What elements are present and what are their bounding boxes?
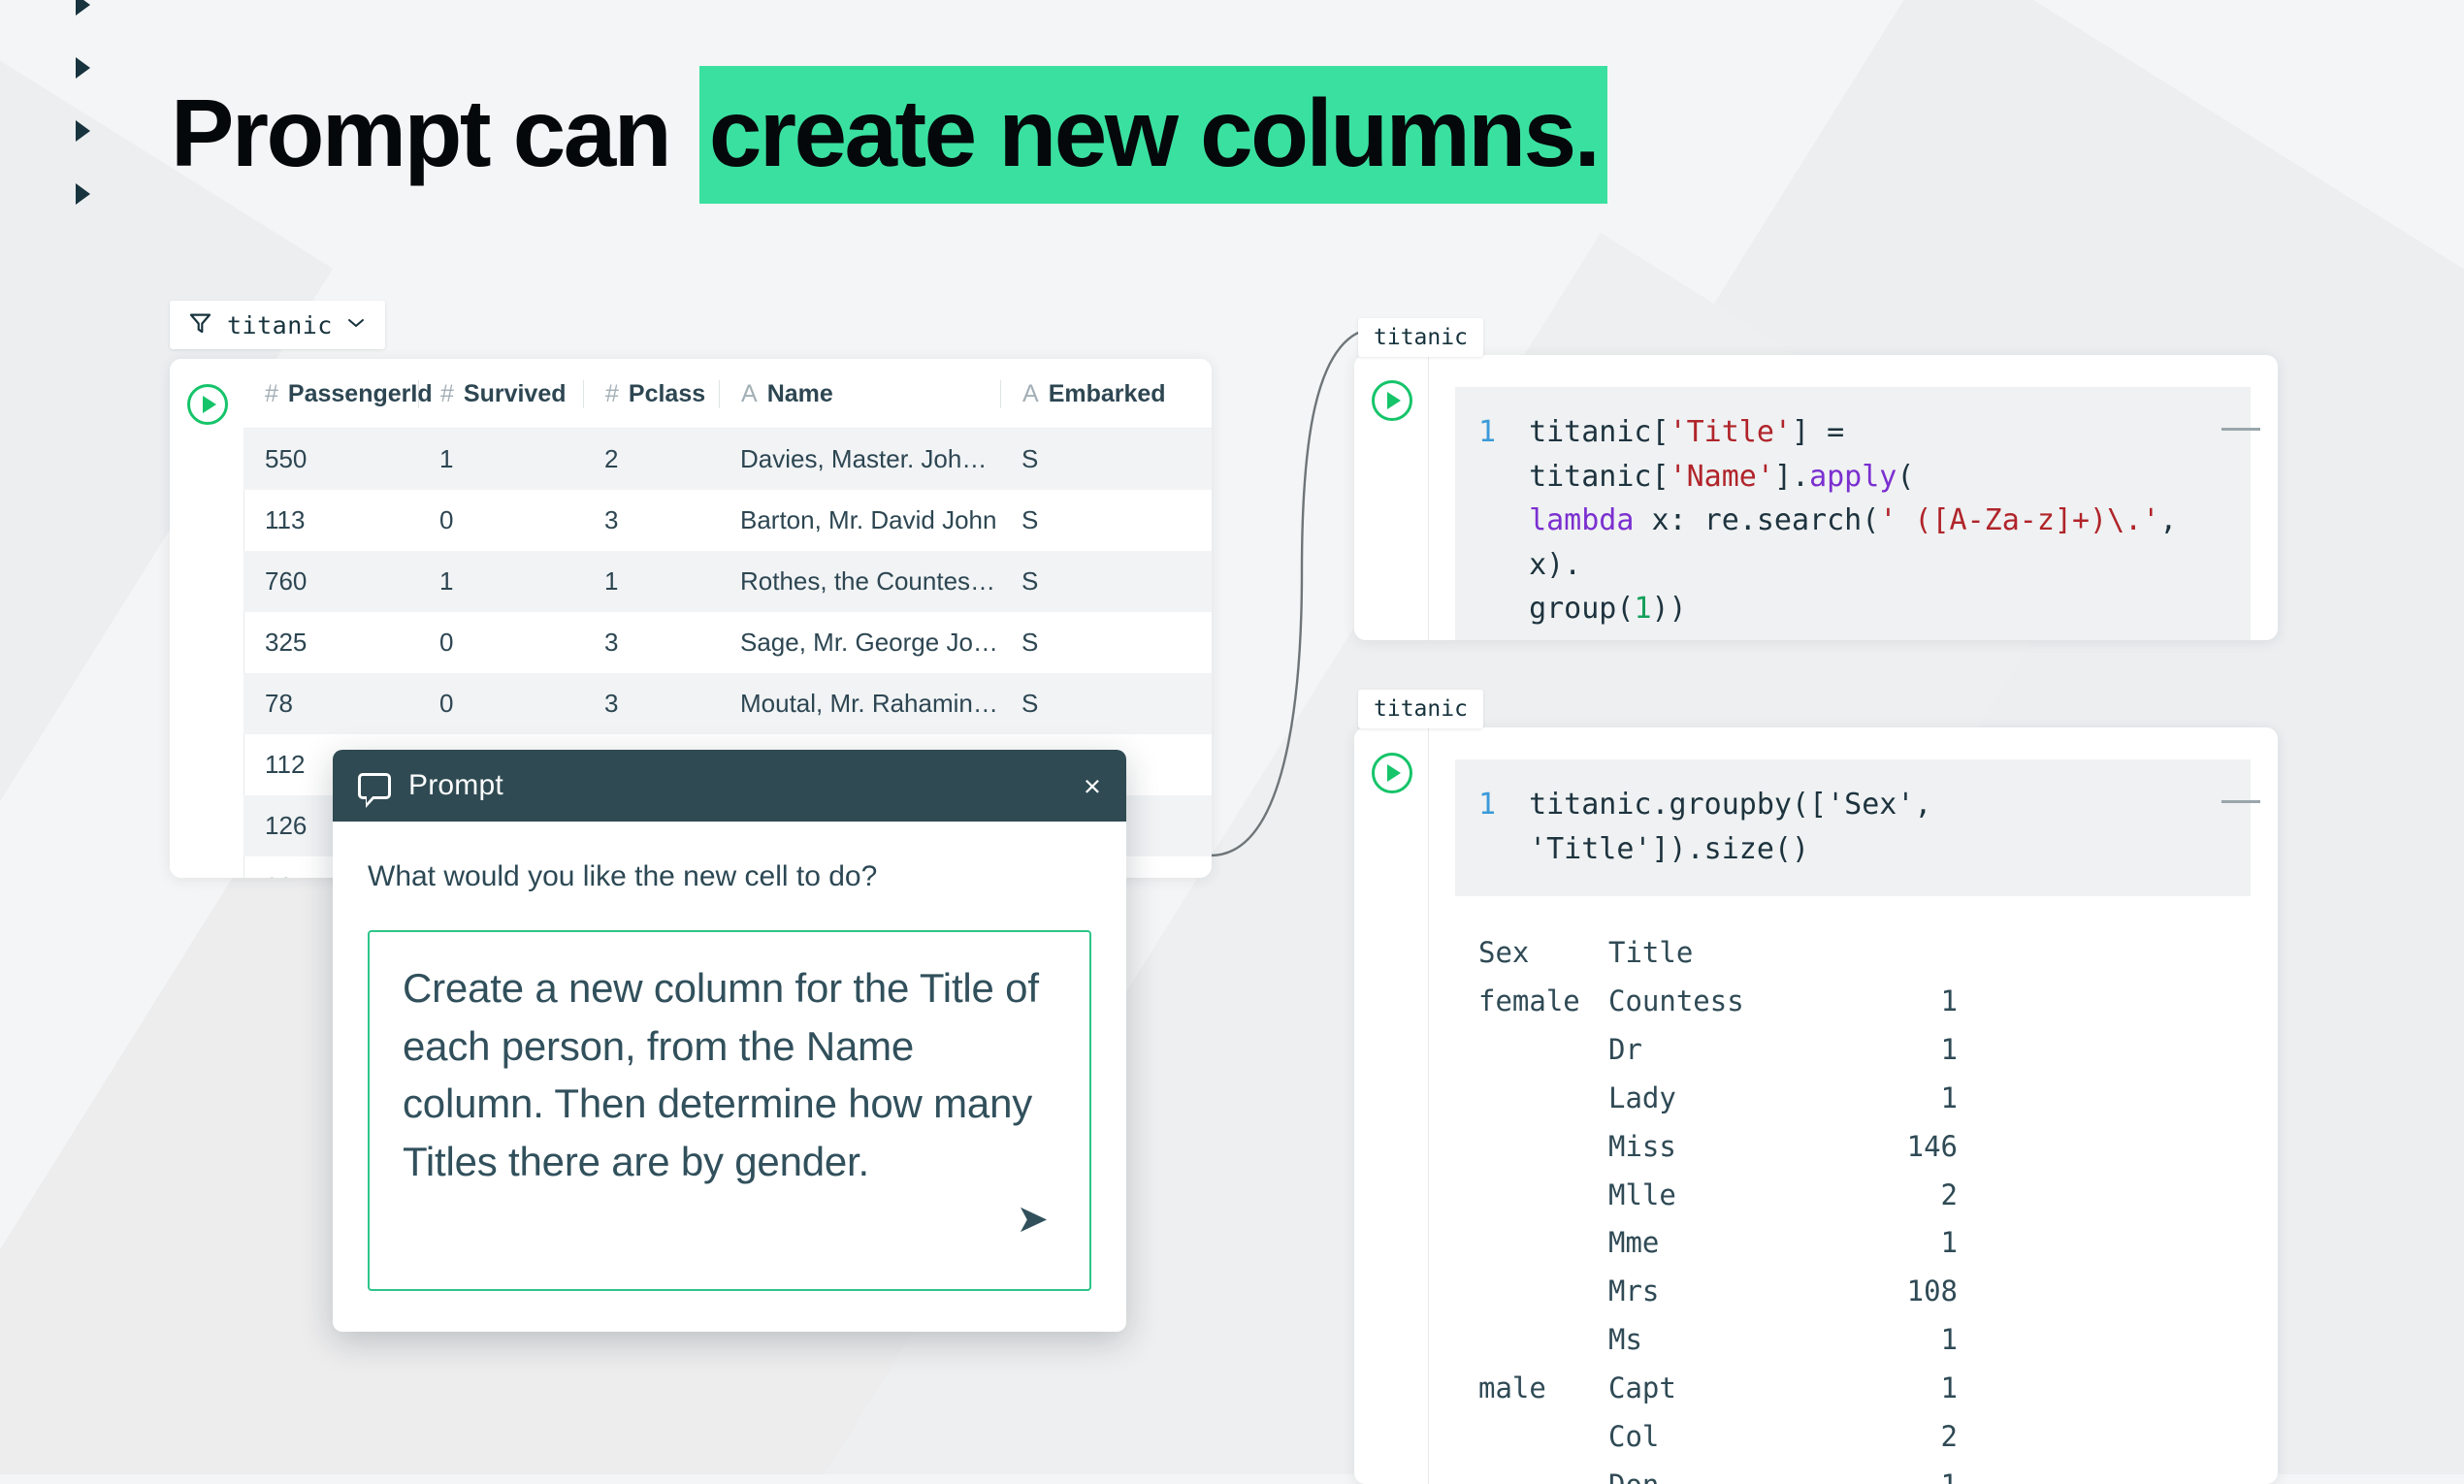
output-count: 1	[1851, 1462, 1958, 1484]
cell-pclass: 2	[583, 429, 719, 491]
output-count: 1	[1851, 978, 1958, 1026]
cell-embarked: S	[1000, 490, 1212, 551]
prompt-dialog: Prompt × What would you like the new cel…	[333, 750, 1126, 1332]
speech-bubble-icon	[358, 773, 391, 799]
column-header-label: Pclass	[629, 380, 705, 408]
output-row: Mlle2	[1478, 1172, 2278, 1220]
code-token: 1	[1634, 592, 1651, 626]
code-token: 'Title'	[1670, 415, 1792, 449]
cell-embarked: S	[1000, 551, 1212, 612]
headline-highlight: create new columns.	[699, 66, 1608, 204]
code-token: ))	[1652, 592, 1687, 626]
collapse-handle[interactable]	[2221, 428, 2260, 431]
headline-plain: Prompt can	[171, 80, 694, 186]
code-token: lambda	[1529, 503, 1634, 537]
output-title: Don	[1608, 1462, 1851, 1484]
cell-name: Moutal, Mr. Rahamin ...	[719, 673, 1000, 734]
run-cell-button[interactable]	[187, 384, 228, 425]
output-sex	[1478, 1219, 1608, 1268]
line-number: 1	[1478, 410, 1496, 631]
cell-survived: 0	[418, 490, 583, 551]
table-row[interactable]: 55012Davies, Master. John ...S	[243, 429, 1212, 491]
output-sex	[1478, 1462, 1608, 1484]
output-title: Miss	[1608, 1123, 1851, 1172]
output-row: Don1	[1478, 1462, 2278, 1484]
output-count: 2	[1851, 1413, 1958, 1462]
column-type-icon: A	[1022, 380, 1039, 408]
close-icon[interactable]: ×	[1084, 771, 1101, 801]
dataset-filter-chip[interactable]: titanic	[170, 301, 385, 349]
triangle-right-icon	[76, 183, 90, 205]
output-sex: male	[1478, 1365, 1608, 1413]
cell-gutter	[170, 359, 244, 878]
code-text-2: titanic.groupby(['Sex', 'Title']).size()	[1529, 783, 2221, 871]
triangle-right-icon	[76, 120, 90, 142]
output-sex	[1478, 1316, 1608, 1365]
cell-output-2: Sex Title femaleCountess1Dr1Lady1Miss146…	[1428, 896, 2278, 1484]
output-row: Mme1	[1478, 1219, 2278, 1268]
left-marker-list	[76, 0, 90, 246]
output-count: 1	[1851, 1026, 1958, 1075]
column-header-label: Name	[767, 380, 833, 408]
prompt-question-label: What would you like the new cell to do?	[368, 860, 1091, 893]
column-header-label: Survived	[464, 380, 567, 408]
column-header-survived[interactable]: #Survived	[418, 359, 583, 429]
cell-survived: 0	[418, 612, 583, 673]
cell-survived: 1	[418, 551, 583, 612]
cell-name: Rothes, the Countess...	[719, 551, 1000, 612]
output-title: Capt	[1608, 1365, 1851, 1413]
output-header-row: Sex Title	[1478, 929, 2278, 978]
output-title: Col	[1608, 1413, 1851, 1462]
run-cell-button[interactable]	[1372, 380, 1412, 421]
output-title: Countess	[1608, 978, 1851, 1026]
cell-passengerid: 78	[243, 673, 418, 734]
output-row: Miss146	[1478, 1123, 2278, 1172]
output-count: 2	[1851, 1172, 1958, 1220]
filter-label: titanic	[227, 311, 333, 339]
output-sex	[1478, 1075, 1608, 1123]
output-row: maleCapt1	[1478, 1365, 2278, 1413]
output-header-count	[1851, 929, 1958, 978]
output-row: Dr1	[1478, 1026, 2278, 1075]
cell-passengerid: 325	[243, 612, 418, 673]
code-token: 'Name'	[1670, 460, 1774, 494]
column-type-icon: A	[741, 380, 758, 408]
chevron-down-icon[interactable]	[346, 316, 366, 335]
output-count: 146	[1851, 1123, 1958, 1172]
output-sex	[1478, 1026, 1608, 1075]
column-type-icon: #	[605, 380, 619, 408]
column-header-label: Embarked	[1049, 380, 1166, 408]
output-count: 1	[1851, 1219, 1958, 1268]
prompt-dialog-title: Prompt	[408, 769, 503, 802]
code-token: titanic[	[1529, 415, 1670, 449]
cell-survived: 1	[418, 429, 583, 491]
code-token: (	[1897, 460, 1914, 494]
output-title: Mrs	[1608, 1268, 1851, 1316]
output-row: Ms1	[1478, 1316, 2278, 1365]
output-sex	[1478, 1123, 1608, 1172]
output-sex	[1478, 1268, 1608, 1316]
code-editor-1[interactable]: 1 titanic['Title'] = titanic['Name'].app…	[1455, 387, 2251, 640]
cell-pclass: 1	[583, 551, 719, 612]
table-header-row: #PassengerId #Survived #Pclass AName AEm…	[243, 359, 1212, 429]
line-number: 1	[1478, 783, 1496, 871]
code-token: ].	[1774, 460, 1809, 494]
table-row[interactable]: 32503Sage, Mr. George Joh...S	[243, 612, 1212, 673]
output-sex: female	[1478, 978, 1608, 1026]
code-cell-2: 1 titanic.groupby(['Sex', 'Title']).size…	[1354, 727, 2278, 1484]
cell-name: Barton, Mr. David John	[719, 490, 1000, 551]
cell-passengerid: 113	[243, 490, 418, 551]
column-header-label: PassengerId	[288, 380, 433, 408]
output-count: 1	[1851, 1075, 1958, 1123]
output-row: Lady1	[1478, 1075, 2278, 1123]
column-header-passengerid[interactable]: #PassengerId	[243, 359, 418, 429]
code-cell-1-body: 1 titanic['Title'] = titanic['Name'].app…	[1428, 355, 2278, 640]
column-header-pclass[interactable]: #Pclass	[583, 359, 719, 429]
output-row: Col2	[1478, 1413, 2278, 1462]
output-count: 1	[1851, 1365, 1958, 1413]
triangle-right-icon	[76, 0, 90, 16]
output-row: Mrs108	[1478, 1268, 2278, 1316]
cell-pclass: 3	[583, 490, 719, 551]
prompt-input-field[interactable]: Create a new column for the Title of eac…	[368, 930, 1091, 1291]
cell-tag-titanic-1[interactable]: titanic	[1358, 318, 1483, 357]
send-icon[interactable]: ➤	[1016, 1200, 1049, 1239]
output-count: 108	[1851, 1268, 1958, 1316]
code-cell-1: 1 titanic['Title'] = titanic['Name'].app…	[1354, 355, 2278, 640]
code-token: apply	[1809, 460, 1897, 494]
output-count: 1	[1851, 1316, 1958, 1365]
run-cell-button[interactable]	[1372, 753, 1412, 793]
output-title: Ms	[1608, 1316, 1851, 1365]
prompt-dialog-body: What would you like the new cell to do? …	[333, 822, 1126, 1332]
cell-name: Sage, Mr. George Joh...	[719, 612, 1000, 673]
output-row: femaleCountess1	[1478, 978, 2278, 1026]
code-editor-2[interactable]: 1 titanic.groupby(['Sex', 'Title']).size…	[1455, 759, 2251, 896]
cell-name: Davies, Master. John ...	[719, 429, 1000, 491]
page-title: Prompt can create new columns.	[171, 85, 1607, 180]
column-type-icon: #	[265, 380, 278, 408]
column-header-embarked[interactable]: AEmbarked	[1000, 359, 1212, 429]
output-title: Dr	[1608, 1026, 1851, 1075]
output-sex	[1478, 1172, 1608, 1220]
funnel-icon	[187, 309, 213, 340]
cell-passengerid: 760	[243, 551, 418, 612]
prompt-dialog-header: Prompt ×	[333, 750, 1126, 822]
code-token: ' ([A-Za-z]+)\.'	[1879, 503, 2159, 537]
output-sex	[1478, 1413, 1608, 1462]
cell-embarked: S	[1000, 673, 1212, 734]
cell-tag-titanic-2[interactable]: titanic	[1358, 690, 1483, 728]
column-type-icon: #	[440, 380, 454, 408]
output-title: Lady	[1608, 1075, 1851, 1123]
code-cell-2-body: 1 titanic.groupby(['Sex', 'Title']).size…	[1428, 727, 2278, 1484]
cell-gutter	[1354, 727, 1429, 1484]
output-header-title: Title	[1608, 929, 1851, 978]
column-header-name[interactable]: AName	[719, 359, 1000, 429]
output-title: Mme	[1608, 1219, 1851, 1268]
table-row[interactable]: 76011Rothes, the Countess...S	[243, 551, 1212, 612]
triangle-right-icon	[76, 57, 90, 79]
collapse-handle[interactable]	[2221, 800, 2260, 803]
cell-embarked: S	[1000, 612, 1212, 673]
table-row[interactable]: 11303Barton, Mr. David JohnS	[243, 490, 1212, 551]
cell-passengerid: 550	[243, 429, 418, 491]
cell-gutter	[1354, 355, 1429, 640]
output-title: Mlle	[1608, 1172, 1851, 1220]
table-row[interactable]: 7803Moutal, Mr. Rahamin ...S	[243, 673, 1212, 734]
cell-embarked: S	[1000, 429, 1212, 491]
cell-pclass: 3	[583, 612, 719, 673]
code-text-1: titanic['Title'] = titanic['Name'].apply…	[1529, 410, 2221, 631]
code-token: x: re.search(	[1634, 503, 1879, 537]
cell-pclass: 3	[583, 673, 719, 734]
cell-survived: 0	[418, 673, 583, 734]
prompt-input-value: Create a new column for the Title of eac…	[403, 959, 1056, 1191]
output-header-sex: Sex	[1478, 929, 1608, 978]
